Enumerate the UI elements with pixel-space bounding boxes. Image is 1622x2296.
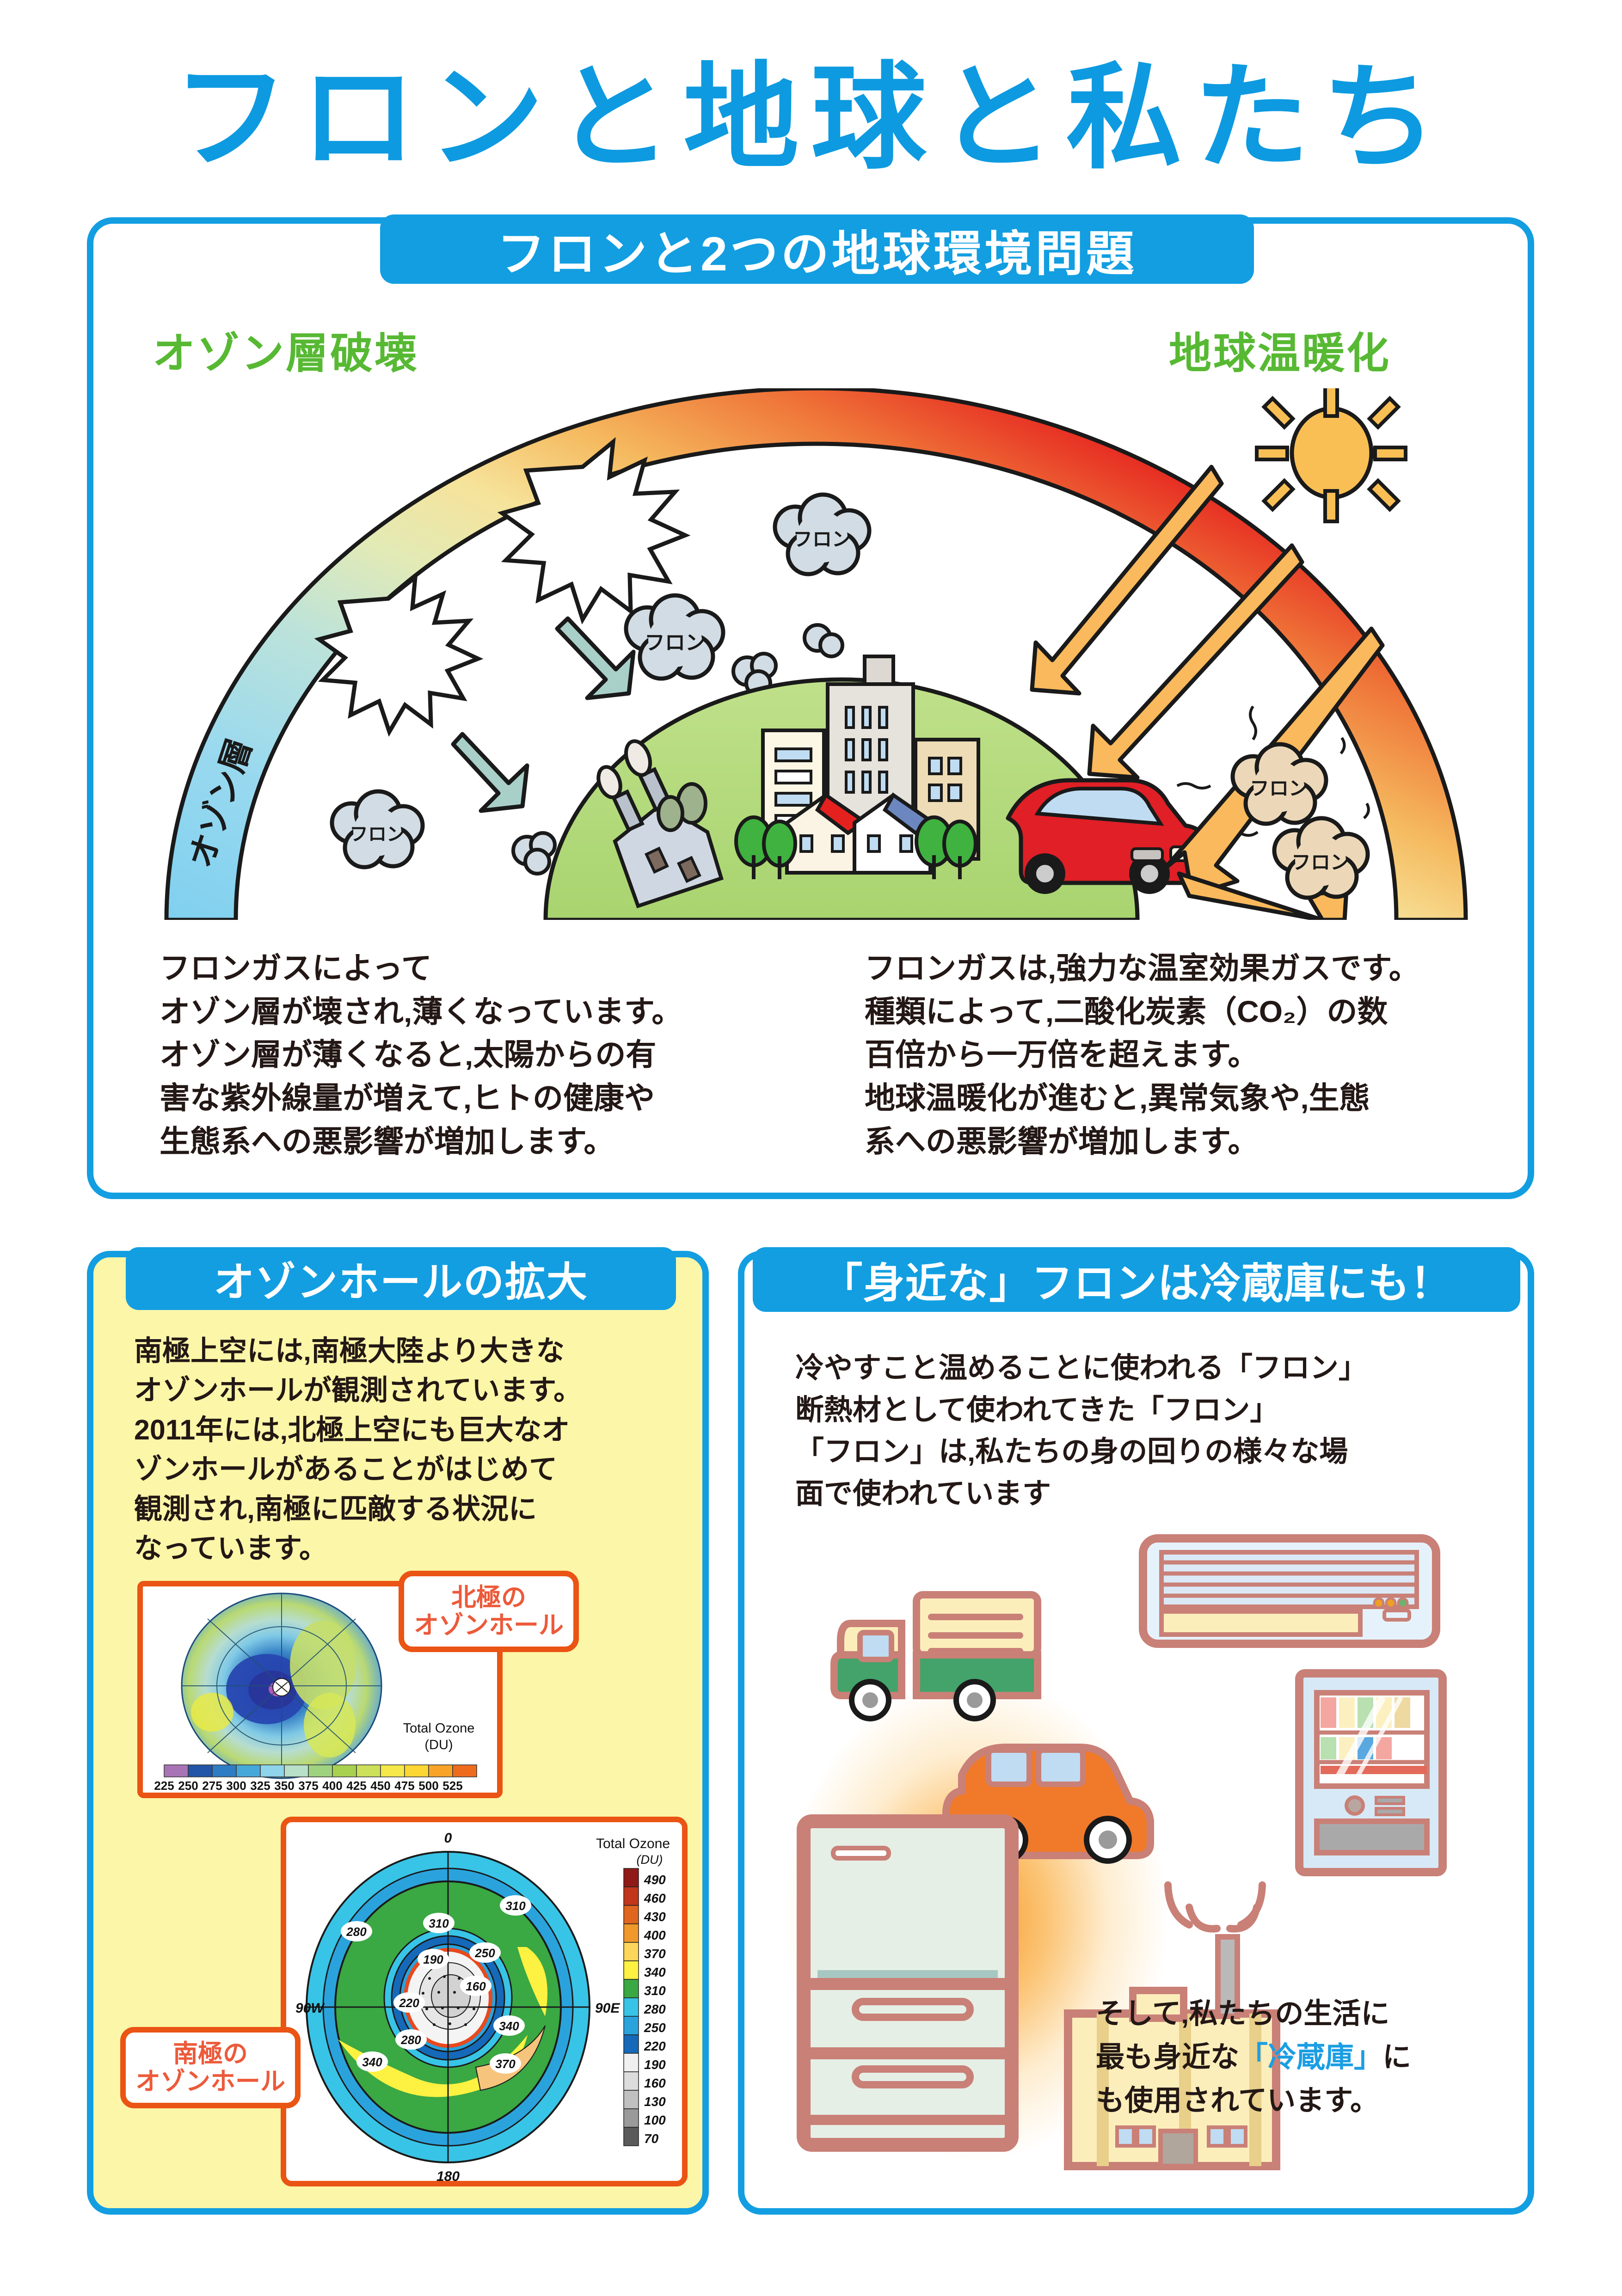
ozone-destruction-description: フロンガスによって オゾン層が壊され‚薄くなっています。 オゾン層が薄くなると‚… [160,947,821,1163]
antarctic-tick-190: 190 [644,2057,666,2072]
svg-text:190: 190 [423,1953,443,1966]
contour-label-280b: 280 [395,2029,427,2050]
svg-text:280: 280 [346,1925,367,1939]
closing-statement: そして‚私たちの生活に 最も身近な「冷蔵庫」に も使用されています。 [1096,1992,1503,2123]
heat-arrow-1 [1032,467,1222,693]
heat-arrow-4 [1179,874,1346,920]
antarctic-tick-280: 280 [644,2002,666,2016]
arctic-tick-525: 525 [442,1779,462,1793]
heat-arrow-3 [1164,629,1382,895]
sun-icon [1257,388,1406,521]
refrigerator-icon [804,1821,1012,2145]
antarctic-tick-340: 340 [644,1965,666,1979]
arctic-colorbar-title: Total Ozone [403,1721,475,1736]
contour-label-220: 220 [393,1992,425,2013]
svg-text:310: 310 [429,1916,449,1930]
arctic-tick-325: 325 [250,1779,270,1793]
cfc-cloud-right-1: フロン [1233,744,1326,824]
svg-text:280: 280 [400,2033,421,2047]
ozone-hole-description: 南極上空には‚南極大陸より大きな オゾンホールが観測されています。 2011年に… [134,1331,684,1568]
cfc-cloud-label: フロン [793,528,851,550]
arctic-label-line1: 北極の [451,1584,526,1611]
fridge-highlight: 「冷蔵庫」 [1239,2041,1382,2073]
contour-label-250: 250 [469,1942,501,1963]
atmosphere-band [166,388,1466,920]
antarctic-tick-460: 460 [644,1891,666,1905]
arctic-tick-350: 350 [274,1779,294,1793]
antarctic-colorbar-units: (DU) [637,1853,663,1867]
antarctic-tick-250: 250 [644,2020,666,2035]
antarctic-ozone-heatmap: 0 90W 90E 180 310 310 280 250 190 160 22… [286,1822,688,2186]
antarctic-label-line2: オゾンホール [135,2068,285,2095]
city-buildings [763,656,978,859]
arctic-tick-450: 450 [370,1779,390,1793]
diagram-svg: オゾン層 フロン [139,388,1493,920]
panel1-header-label: フロンと2つの地球環境問題 [497,214,1137,284]
antarctic-ozone-hole-label: 南極の オゾンホール [120,2027,301,2108]
air-conditioner-icon [1143,1538,1436,1644]
contour-label-340a: 340 [493,2015,525,2036]
svg-text:250: 250 [474,1946,495,1960]
arctic-tick-475: 475 [394,1779,414,1793]
contour-label-340b: 340 [356,2051,388,2072]
house-blue-roof [854,795,932,873]
cfc-cloud-right-2: フロン [1274,818,1368,898]
svg-text:オゾン層: オゾン層 [183,734,259,872]
svg-text:160: 160 [466,1979,486,1993]
heat-squiggles [1177,706,1369,835]
panel2-header-label: オゾンホールの拡大 [214,1249,588,1308]
page-title: フロンと地球と私たち [0,55,1622,180]
antarctic-tick-70: 70 [644,2131,659,2146]
contour-label-160: 160 [460,1976,492,1996]
antarctic-tick-100: 100 [644,2113,666,2127]
global-warming-description: フロンガスは‚強力な温室効果ガスです。 種類によって‚二酸化炭素（CO₂）の数 … [865,947,1530,1163]
earth-globe [546,680,1137,920]
panel-cfc-in-fridge: 「身近な」フロンは冷蔵庫にも！ 冷やすこと温めることに使われる「フロン」 断熱材… [738,1251,1534,2215]
atmosphere-diagram: オゾン層 フロン [139,388,1493,920]
arctic-tick-425: 425 [346,1779,366,1793]
heat-arrow-2 [1089,545,1302,778]
antarctic-colorbar-title: Total Ozone [596,1836,670,1851]
ozone-layer-label: オゾン層 [183,734,259,872]
svg-text:310: 310 [505,1899,526,1913]
antarctic-tick-490: 490 [644,1873,666,1887]
svg-text:370: 370 [495,2057,516,2071]
cfc-rising-arrow-1 [557,618,633,698]
svg-text:340: 340 [362,2055,382,2069]
cfc-cloud-left-1: フロン [626,595,723,679]
antarctic-tick-310: 310 [644,1984,666,1998]
svg-text:340: 340 [499,2019,519,2033]
cfc-puff-small-3 [513,833,555,874]
cfc-cloud-left-2: フロン [775,495,869,574]
factory-icon [595,738,721,906]
car-icon [946,1747,1150,1861]
contour-label-310b: 310 [423,1913,455,1933]
contour-label-190: 190 [418,1949,449,1969]
arctic-tick-300: 300 [226,1779,246,1793]
contour-label-280a: 280 [341,1921,372,1941]
antarctic-tick-370: 370 [644,1947,666,1961]
svg-text:220: 220 [399,1996,419,2010]
antarctic-ozone-map-card: 0 90W 90E 180 310 310 280 250 190 160 22… [281,1817,688,2186]
cfc-cloud-label: フロン [645,631,706,654]
antarctic-axis-left: 90W [295,2001,325,2016]
arctic-tick-375: 375 [298,1779,318,1793]
ozone-hole-burst-2 [502,442,685,619]
contour-label-310a: 310 [500,1895,531,1916]
antarctic-tick-130: 130 [644,2094,666,2109]
cfc-cloud-label: フロン [350,824,405,845]
arctic-tick-225: 225 [154,1779,174,1793]
antarctic-axis-bottom: 180 [436,2169,460,2184]
cfc-cloud-left-3: フロン [332,791,423,867]
arctic-tick-400: 400 [322,1779,342,1793]
car-icon [1008,780,1207,894]
cfc-puff-small-2 [805,625,842,656]
antarctic-axis-top: 0 [444,1831,452,1846]
house-red-roof [787,795,865,873]
arctic-colorbar: 225 250 275 300 325 350 375 400 425 450 … [154,1765,477,1793]
truck-icon [834,1595,1038,1719]
arctic-label-line2: オゾンホール [414,1611,564,1639]
cfc-usage-description: 冷やすこと温めることに使われる「フロン」 断熱材として使われてきた「フロン」 「… [795,1347,1498,1515]
subheading-global-warming: 地球温暖化 [1169,319,1391,380]
panel3-header-label: 「身近な」フロンは冷蔵庫にも！ [821,1249,1452,1310]
antarctic-axis-right: 90E [595,2001,620,2016]
subheading-ozone-destruction: オゾン層破壊 [153,319,419,380]
poster-page: フロンと地球と私たち フロンと2つの地球環境問題 オゾン層破壊 地球温暖化 [0,0,1622,2296]
cfc-puff-small-1 [733,654,776,695]
antarctic-tick-220: 220 [644,2039,666,2053]
arctic-tick-275: 275 [202,1779,222,1793]
ozone-hole-burst-1 [319,577,478,732]
contour-label-370: 370 [490,2053,521,2074]
arctic-ozone-hole-label: 北極の オゾンホール [399,1571,579,1652]
cfc-cloud-label: フロン [1291,851,1350,873]
cfc-rising-arrow-2 [453,734,527,811]
antarctic-tick-160: 160 [644,2076,666,2090]
panel-ozone-hole-expansion: オゾンホールの拡大 南極上空には‚南極大陸より大きな オゾンホールが観測されてい… [87,1251,709,2215]
panel1-header: フロンと2つの地球環境問題 [380,214,1254,284]
antarctic-label-line1: 南極の [173,2040,248,2068]
vending-machine-icon [1299,1673,1443,1872]
arctic-tick-500: 500 [418,1779,438,1793]
panel2-header: オゾンホールの拡大 [126,1247,676,1310]
antarctic-tick-430: 430 [644,1910,666,1924]
tree-group [736,817,976,879]
antarctic-tick-400: 400 [644,1928,666,1942]
cfc-cloud-label: フロン [1250,778,1308,799]
panel3-header: 「身近な」フロンは冷蔵庫にも！ [753,1247,1520,1312]
arctic-colorbar-units: (DU) [424,1738,453,1752]
arctic-tick-250: 250 [178,1779,198,1793]
